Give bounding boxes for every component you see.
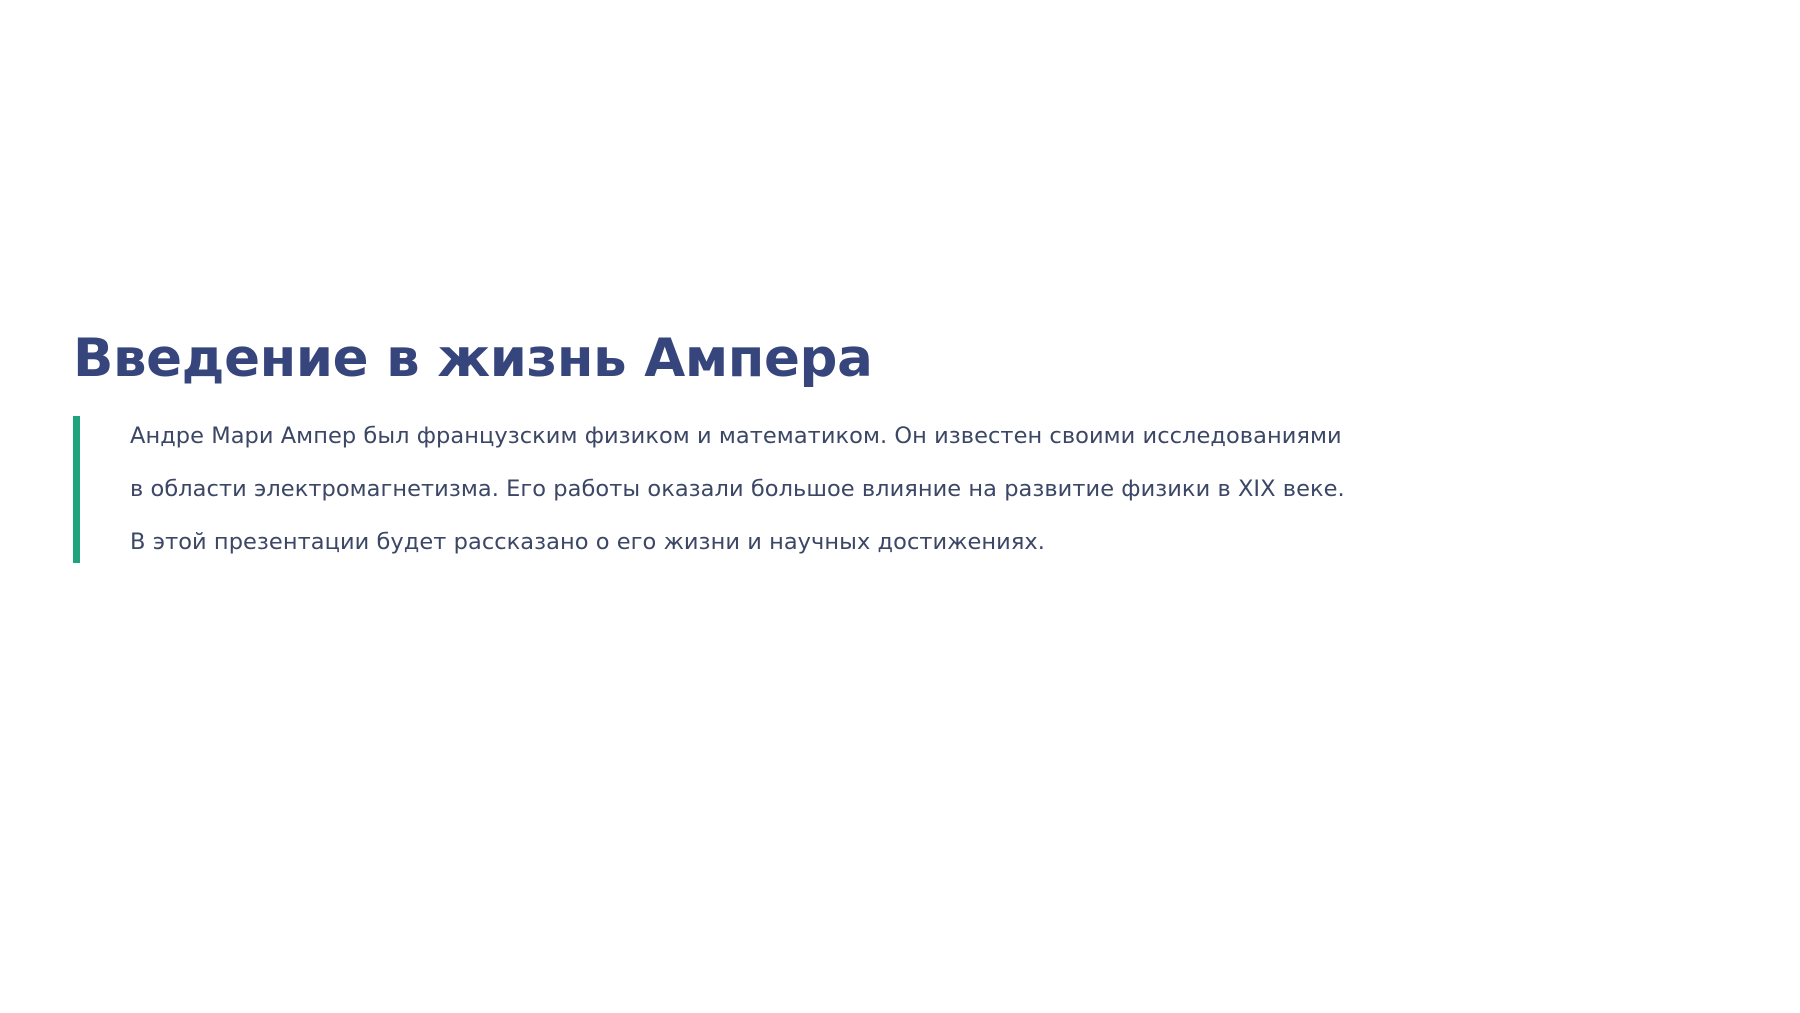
slide-content-container: Введение в жизнь Ампера Андре Мари Ампер…: [73, 330, 1733, 569]
accent-bar: [73, 416, 80, 563]
body-block: Андре Мари Ампер был французским физиком…: [73, 410, 1733, 569]
body-paragraph: Андре Мари Ампер был французским физиком…: [80, 410, 1345, 569]
body-line: Андре Мари Ампер был французским физиком…: [130, 410, 1345, 463]
body-line: в области электромагнетизма. Его работы …: [130, 463, 1345, 516]
body-line: В этой презентации будет рассказано о ег…: [130, 516, 1345, 569]
presentation-slide: Введение в жизнь Ампера Андре Мари Ампер…: [0, 0, 1800, 1013]
slide-title: Введение в жизнь Ампера: [73, 330, 1733, 388]
